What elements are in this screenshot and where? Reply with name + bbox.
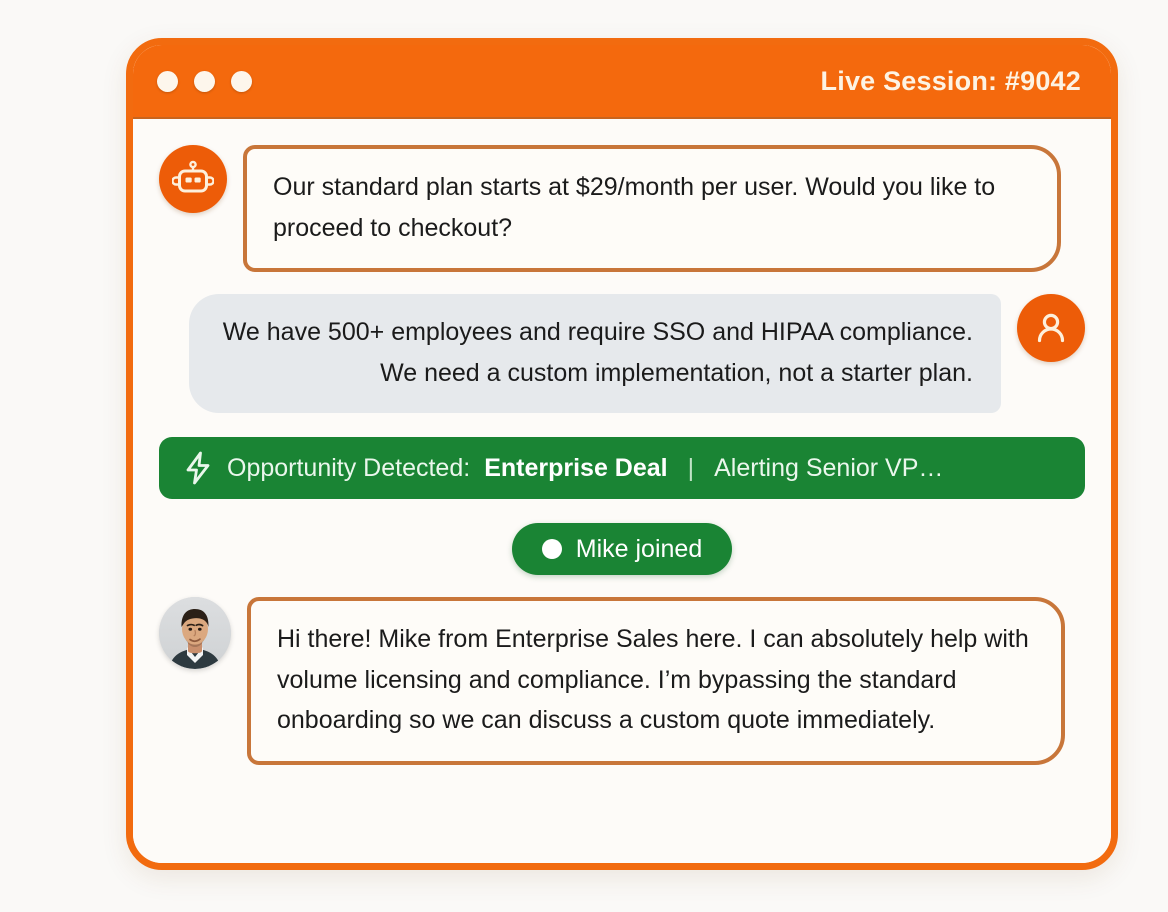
session-title: Live Session: #9042 (821, 66, 1081, 97)
message-row-bot: Our standard plan starts at $29/month pe… (159, 145, 1085, 272)
lightning-bolt-icon (183, 451, 213, 485)
person-icon (1031, 308, 1071, 348)
alert-suffix: Alerting Senior VP… (714, 454, 943, 483)
mike-photo-avatar (159, 597, 231, 669)
chat-message-list: Our standard plan starts at $29/month pe… (133, 119, 1111, 863)
avatar-portrait (159, 597, 231, 669)
join-event-pill: Mike joined (512, 523, 732, 575)
window-controls (157, 71, 252, 92)
join-event-label: Mike joined (576, 535, 702, 564)
user-avatar (1017, 294, 1085, 362)
join-event-row: Mike joined (159, 523, 1085, 575)
alert-separator: | (682, 454, 701, 483)
bot-message-bubble: Our standard plan starts at $29/month pe… (243, 145, 1061, 272)
maximize-icon[interactable] (231, 71, 252, 92)
chat-window: Live Session: #9042 Our standard plan st… (126, 38, 1118, 870)
message-row-agent: Hi there! Mike from Enterprise Sales her… (159, 597, 1085, 765)
message-row-user: We have 500+ employees and require SSO a… (159, 294, 1085, 413)
robot-icon (172, 158, 214, 200)
minimize-icon[interactable] (194, 71, 215, 92)
alert-prefix: Opportunity Detected: (227, 454, 470, 483)
user-message-bubble: We have 500+ employees and require SSO a… (189, 294, 1001, 413)
alert-highlight: Enterprise Deal (484, 454, 667, 483)
online-dot-icon (542, 539, 562, 559)
agent-message-bubble: Hi there! Mike from Enterprise Sales her… (247, 597, 1065, 765)
opportunity-alert-banner[interactable]: Opportunity Detected: Enterprise Deal | … (159, 437, 1085, 499)
bot-avatar (159, 145, 227, 213)
window-title-bar: Live Session: #9042 (133, 45, 1111, 119)
close-icon[interactable] (157, 71, 178, 92)
